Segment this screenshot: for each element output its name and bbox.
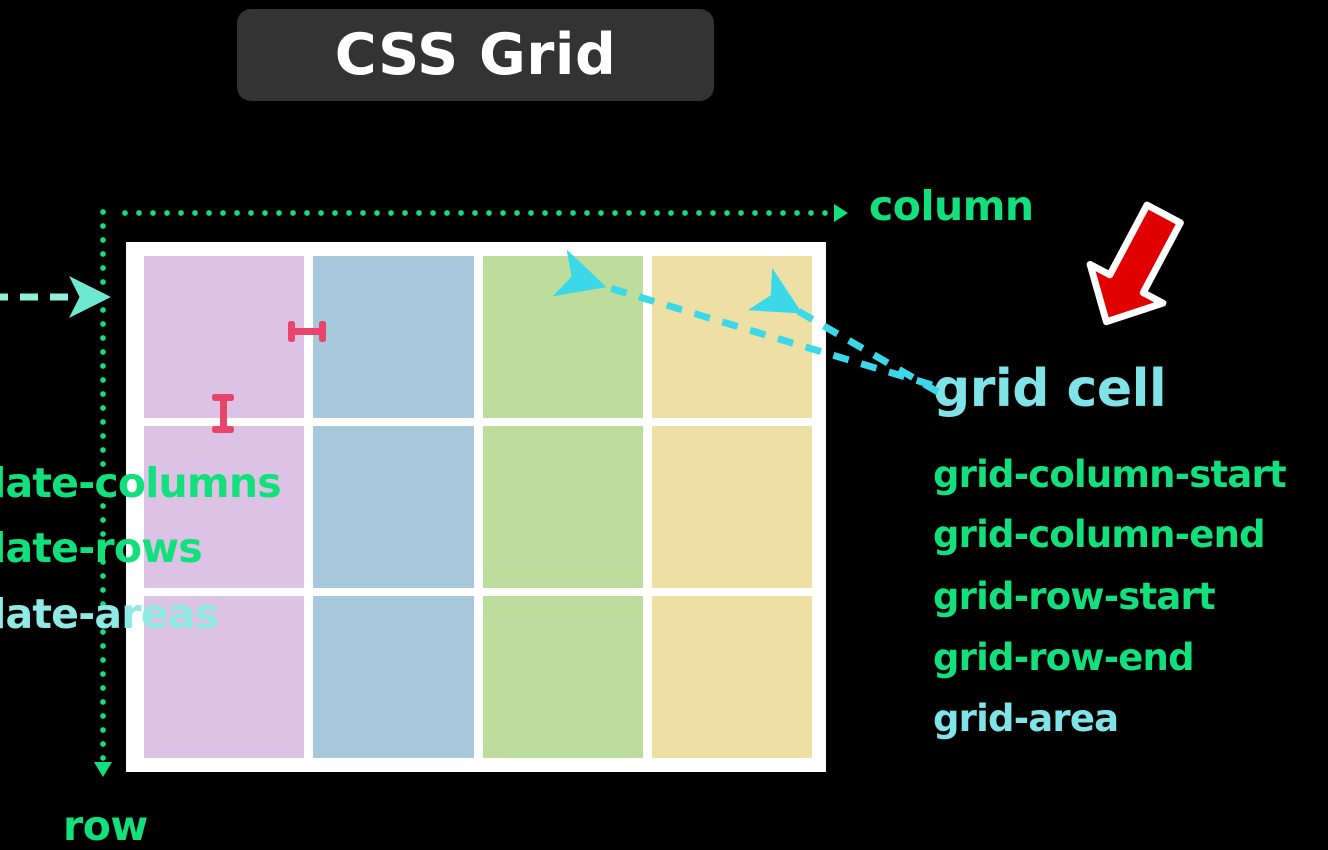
page-title: CSS Grid bbox=[335, 27, 617, 84]
row-axis-label: row bbox=[63, 806, 148, 847]
cell-r1c2[interactable] bbox=[313, 256, 473, 418]
cell-r3c2[interactable] bbox=[313, 596, 473, 758]
grid-cell-heading: grid cell bbox=[933, 363, 1166, 415]
row-axis-arrow-icon bbox=[94, 762, 112, 777]
title-box: CSS Grid bbox=[237, 9, 714, 101]
right-property-grid-column-end: grid-column-end bbox=[933, 516, 1265, 553]
left-property-grid-template-rows: grid-template-rows bbox=[0, 528, 94, 569]
right-property-grid-area: grid-area bbox=[933, 700, 1118, 737]
right-property-grid-row-start: grid-row-start bbox=[933, 578, 1215, 615]
column-axis-label: column bbox=[869, 186, 1034, 227]
right-property-grid-row-end: grid-row-end bbox=[933, 639, 1194, 676]
cell-r1c3[interactable] bbox=[483, 256, 643, 418]
cell-r3c3[interactable] bbox=[483, 596, 643, 758]
grid-container bbox=[126, 242, 826, 772]
column-axis-dotted-line bbox=[118, 209, 836, 217]
cell-r2c4[interactable] bbox=[652, 426, 812, 588]
cell-r2c2[interactable] bbox=[313, 426, 473, 588]
column-gap-marker-icon bbox=[288, 319, 328, 344]
right-property-grid-column-start: grid-column-start bbox=[933, 456, 1286, 493]
cell-r2c3[interactable] bbox=[483, 426, 643, 588]
row-gap-marker-icon bbox=[211, 394, 236, 434]
column-axis-arrow-icon bbox=[834, 204, 848, 222]
left-property-grid-template-areas: grid-template-areas bbox=[0, 594, 94, 635]
cell-r3c4[interactable] bbox=[652, 596, 812, 758]
cell-r1c4[interactable] bbox=[652, 256, 812, 418]
slide-canvas: CSS Grid column row grid-template-column… bbox=[0, 0, 1328, 848]
red-arrow-pointer bbox=[1070, 195, 1200, 342]
left-property-grid-template-columns: grid-template-columns bbox=[0, 463, 94, 504]
